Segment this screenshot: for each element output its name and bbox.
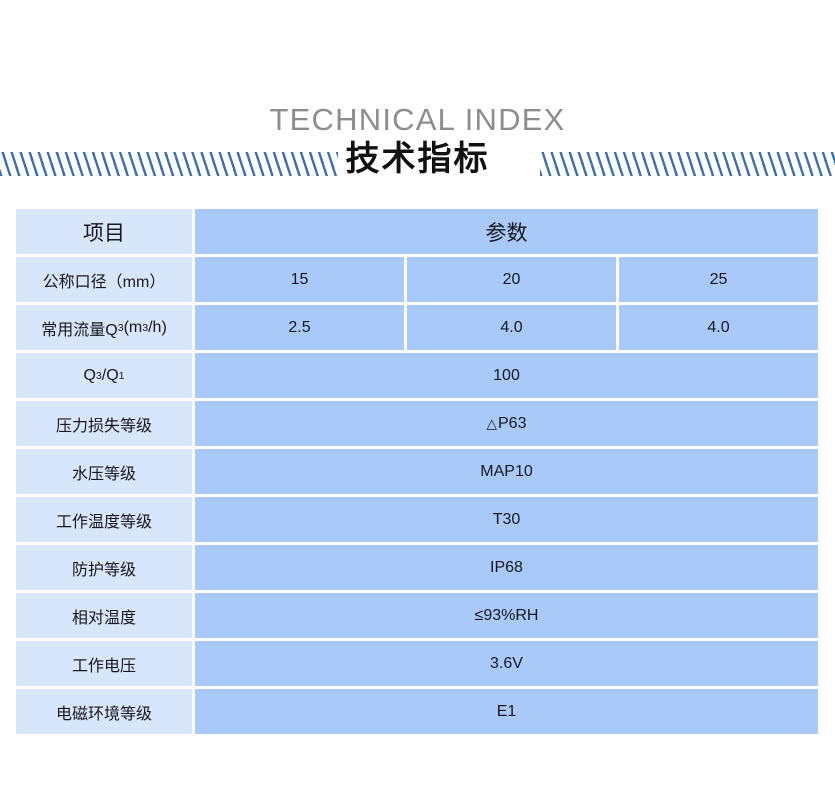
table-row: 防护等级IP68 — [16, 545, 818, 590]
row-value: E1 — [195, 689, 818, 734]
table-row: Q3/Q1100 — [16, 353, 818, 398]
table-row: 公称口径（mm）152025 — [16, 257, 818, 302]
row-value: 3.6V — [195, 641, 818, 686]
triangle-symbol: △ — [487, 416, 497, 432]
row-value: △P63 — [195, 401, 818, 446]
table-header-value: 参数 — [195, 209, 818, 254]
row-label: 水压等级 — [16, 449, 192, 494]
row-label: 压力损失等级 — [16, 401, 192, 446]
row-label: 工作电压 — [16, 641, 192, 686]
row-label: 相对温度 — [16, 593, 192, 638]
row-value: 20 — [407, 257, 616, 302]
row-label: 电磁环境等级 — [16, 689, 192, 734]
table-header-label: 项目 — [16, 209, 192, 254]
row-value: 15 — [195, 257, 404, 302]
row-label: 工作温度等级 — [16, 497, 192, 542]
row-value: 4.0 — [619, 305, 818, 350]
page-title-english: TECHNICAL INDEX — [0, 104, 835, 135]
table-row: 水压等级MAP10 — [16, 449, 818, 494]
row-value: T30 — [195, 497, 818, 542]
row-value: MAP10 — [195, 449, 818, 494]
hatch-decoration-left — [0, 152, 338, 176]
row-value: 4.0 — [407, 305, 616, 350]
row-value: 2.5 — [195, 305, 404, 350]
table-row: 相对温度≤93%RH — [16, 593, 818, 638]
row-label: 公称口径（mm） — [16, 257, 192, 302]
row-value: 25 — [619, 257, 818, 302]
row-label: 常用流量Q3(m3/h) — [16, 305, 192, 350]
row-value: 100 — [195, 353, 818, 398]
hatch-decoration-right — [540, 152, 835, 176]
page-header: TECHNICAL INDEX 技术指标 — [0, 0, 835, 195]
table-row: 工作电压3.6V — [16, 641, 818, 686]
table-header-row: 项目参数 — [16, 209, 818, 254]
table-row: 常用流量Q3(m3/h)2.54.04.0 — [16, 305, 818, 350]
row-value: IP68 — [195, 545, 818, 590]
table-row: 压力损失等级△P63 — [16, 401, 818, 446]
table-row: 电磁环境等级E1 — [16, 689, 818, 734]
technical-index-table: 项目参数公称口径（mm）152025常用流量Q3(m3/h)2.54.04.0Q… — [16, 209, 818, 737]
row-label: Q3/Q1 — [16, 353, 192, 398]
row-label: 防护等级 — [16, 545, 192, 590]
table-row: 工作温度等级T30 — [16, 497, 818, 542]
row-value: ≤93%RH — [195, 593, 818, 638]
